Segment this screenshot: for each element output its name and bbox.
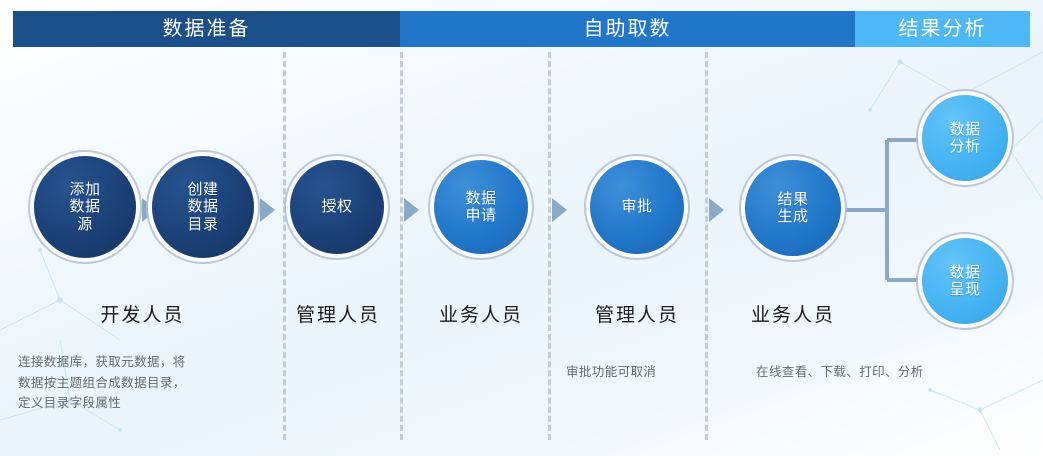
role-label-admin-2: 管理人员 (587, 300, 687, 327)
phase-header-label: 结果分析 (899, 19, 987, 39)
node-add-data-source[interactable]: 添加 数据 源 (34, 156, 136, 258)
role-text: 开发人员 (100, 305, 184, 326)
phase-header-label: 自助取数 (584, 19, 672, 39)
node-label: 结果 生成 (777, 191, 808, 226)
diagram-canvas: 数据准备 自助取数 结果分析 添加 数据 源 创建 数据 目录 授权 (0, 0, 1043, 456)
node-label: 审批 (621, 198, 652, 215)
description-result: 在线查看、下载、打印、分析 (756, 362, 1026, 383)
arrow-authorize-to-request (404, 198, 419, 222)
phase-header-label: 数据准备 (163, 19, 251, 39)
role-label-business-2: 业务人员 (743, 300, 843, 327)
node-label: 创建 数据 目录 (187, 181, 218, 233)
description-data-preparation: 连接数据库，获取元数据，将 数据按主题组合成数据目录， 定义目录字段属性 (18, 352, 278, 414)
node-authorize[interactable]: 授权 (290, 160, 384, 254)
node-label: 数据 申请 (465, 190, 496, 225)
node-label: 数据 呈现 (949, 264, 980, 299)
description-approval: 审批功能可取消 (566, 362, 716, 383)
arrow-create-to-authorize (260, 198, 275, 222)
column-divider-1 (283, 52, 286, 440)
column-divider-2 (400, 52, 403, 440)
node-result-generate[interactable]: 结果 生成 (745, 160, 841, 256)
node-label: 添加 数据 源 (69, 181, 100, 233)
node-data-presentation[interactable]: 数据 呈现 (922, 238, 1008, 324)
node-label: 授权 (321, 198, 352, 215)
role-label-developer: 开发人员 (25, 300, 260, 327)
arrow-request-to-approval (552, 198, 567, 222)
role-text: 管理人员 (296, 305, 380, 326)
arrow-approval-to-result (709, 198, 724, 222)
phase-header-data-preparation: 数据准备 (13, 11, 400, 47)
role-label-business-1: 业务人员 (431, 300, 531, 327)
node-data-request[interactable]: 数据 申请 (434, 160, 528, 254)
node-approval[interactable]: 审批 (590, 160, 684, 254)
column-divider-3 (548, 52, 551, 440)
node-create-catalog[interactable]: 创建 数据 目录 (152, 156, 254, 258)
role-text: 管理人员 (595, 305, 679, 326)
node-data-analysis[interactable]: 数据 分析 (922, 95, 1008, 181)
role-text: 业务人员 (439, 305, 523, 326)
phase-header-result-analysis: 结果分析 (855, 11, 1030, 47)
phase-header-band: 数据准备 自助取数 结果分析 (13, 11, 1030, 47)
node-label: 数据 分析 (949, 121, 980, 156)
role-label-admin-1: 管理人员 (288, 300, 388, 327)
role-text: 业务人员 (751, 305, 835, 326)
phase-header-self-service-query: 自助取数 (400, 11, 855, 47)
